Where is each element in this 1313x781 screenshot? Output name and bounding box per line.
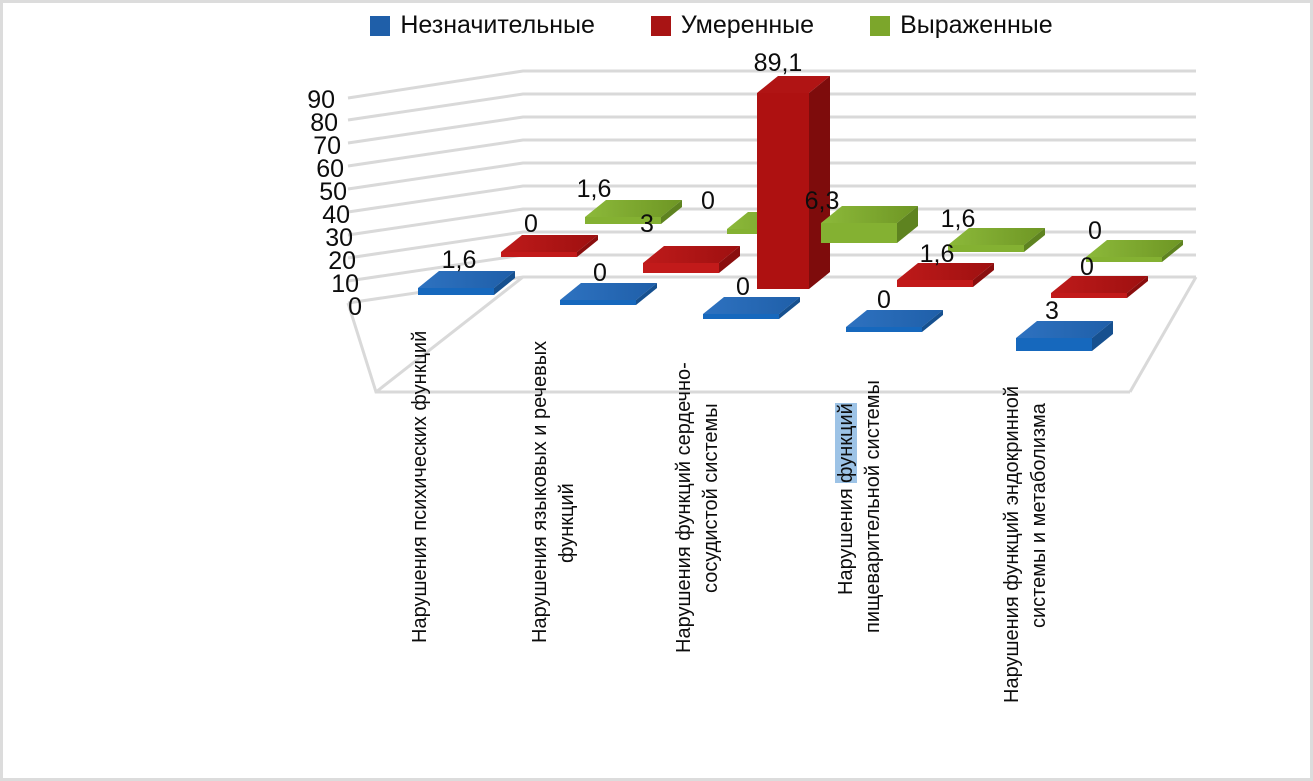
bar-group-category-5 (1016, 240, 1183, 351)
value-label-red-c2: 3 (640, 212, 654, 237)
plot-svg (3, 3, 1313, 781)
value-label-green-c2: 0 (701, 189, 715, 214)
x-axis-label-category-1-line-1: Нарушения психических функций (407, 403, 434, 643)
bar-blue-c2[interactable] (560, 283, 657, 305)
x-axis-label-category-2-line-1: Нарушения языковых и речевых (527, 403, 554, 643)
x-axis-label-category-3-line-1: Нарушения функций сердечно- (671, 403, 698, 653)
plot-area: 90 80 70 60 50 40 30 20 10 0 1,6 0 1,6 0… (3, 3, 1310, 778)
bar-blue-c5[interactable] (1016, 321, 1113, 351)
x-axis-label-category-5: Нарушения функций эндокринной системы и … (999, 403, 1053, 703)
value-label-red-c4: 1,6 (920, 242, 955, 267)
bar-red-c5[interactable] (1051, 276, 1148, 298)
chart-container: Незначительные Умеренные Выраженные (0, 0, 1313, 781)
y-axis-tick-0: 0 (302, 295, 362, 320)
x-axis-label-category-5-line-2: системы и метаболизма (1026, 403, 1053, 703)
x-axis-label-category-4-line-2: пищеварительной системы (860, 403, 887, 633)
value-label-blue-c5: 3 (1045, 299, 1059, 324)
value-label-red-c1: 0 (524, 212, 538, 237)
value-label-red-c5: 0 (1080, 255, 1094, 280)
x-axis-label-category-4-line-1: Нарушения функций (833, 403, 860, 633)
value-label-green-c5: 0 (1088, 219, 1102, 244)
bar-blue-c4[interactable] (846, 310, 943, 332)
value-label-blue-c1: 1,6 (442, 248, 477, 273)
value-label-green-c4: 1,6 (941, 207, 976, 232)
bar-green-c1[interactable] (585, 200, 682, 224)
value-label-green-c3: 6,3 (805, 189, 840, 214)
x-axis-label-category-4-highlighted-word[interactable]: функций (835, 403, 857, 483)
value-label-blue-c3: 0 (736, 275, 750, 300)
bar-red-c3[interactable] (757, 76, 830, 289)
bar-blue-c1[interactable] (418, 271, 515, 295)
value-label-green-c1: 1,6 (577, 177, 612, 202)
x-axis-label-category-3-line-2: сосудистой системы (698, 403, 725, 653)
x-axis-label-category-4: Нарушения функций пищеварительной систем… (833, 403, 887, 633)
value-label-blue-c2: 0 (593, 261, 607, 286)
x-axis-label-category-2-line-2: функций (554, 403, 581, 643)
bar-red-c2[interactable] (643, 246, 740, 273)
x-axis-label-category-1: Нарушения психических функций (407, 403, 434, 643)
x-axis-label-category-5-line-1: Нарушения функций эндокринной (999, 403, 1026, 703)
x-axis-label-category-3: Нарушения функций сердечно- сосудистой с… (671, 403, 725, 653)
bar-blue-c3[interactable] (703, 297, 800, 319)
value-label-red-c3: 89,1 (754, 51, 803, 76)
x-axis-label-category-2: Нарушения языковых и речевых функций (527, 403, 581, 643)
x-axis-label-category-4-word-1: Нарушения (835, 483, 857, 595)
value-label-blue-c4: 0 (877, 288, 891, 313)
